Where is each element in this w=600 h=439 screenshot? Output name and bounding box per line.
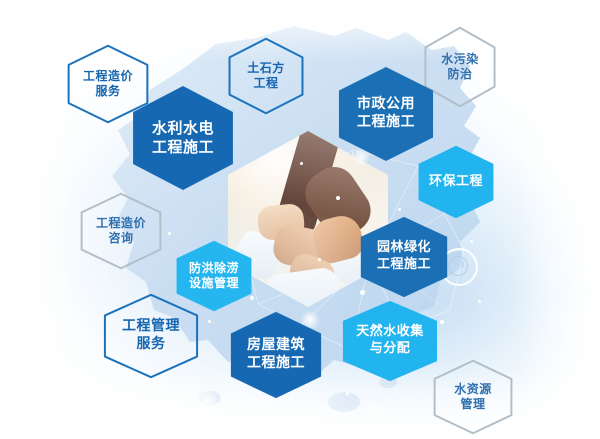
hexagon-label: 水资源 管理 (454, 382, 492, 413)
hexagon-label: 工程造价 服务 (83, 69, 133, 100)
hexagon-natural-water-collection-distribution[interactable]: 天然水收集 与分配 (341, 300, 439, 382)
hexagon-label: 水利水电 工程施工 (152, 119, 214, 157)
hexagon-label: 工程管理 服务 (122, 318, 180, 354)
hexagon-label: 水污染 防治 (441, 52, 479, 83)
hexagon-label: 房屋建筑 工程施工 (247, 337, 305, 373)
hexagon-environmental-protection-works[interactable]: 环保工程 (417, 145, 495, 219)
hexagon-engineering-cost-consulting[interactable]: 工程造价 咨询 (80, 193, 162, 269)
hexagon-hydro-power-engineering[interactable]: 水利水电 工程施工 (131, 85, 235, 191)
hexagon-landscaping-works[interactable]: 园林绿化 工程施工 (359, 216, 449, 298)
hexagon-label: 防洪除涝 设施管理 (189, 261, 239, 292)
hexagon-label: 土石方 工程 (247, 61, 285, 92)
hexagon-label: 园林绿化 工程施工 (377, 240, 431, 273)
hexagon-building-construction-works[interactable]: 房屋建筑 工程施工 (229, 311, 323, 399)
hexagon-label: 环保工程 (429, 174, 483, 191)
hexagon-label: 工程造价 咨询 (96, 216, 146, 247)
hexagon-label: 天然水收集 与分配 (356, 324, 424, 357)
infographic-canvas: 工程造价 服务土石方 工程水污染 防治市政公用 工程施工水利水电 工程施工环保工… (0, 0, 600, 439)
hexagon-earth-rock-works[interactable]: 土石方 工程 (228, 38, 304, 114)
hexagon-label: 市政公用 工程施工 (357, 96, 415, 132)
hexagon-engineering-management-service[interactable]: 工程管理 服务 (103, 294, 199, 378)
hexagon-water-resource-management[interactable]: 水资源 管理 (433, 360, 513, 434)
